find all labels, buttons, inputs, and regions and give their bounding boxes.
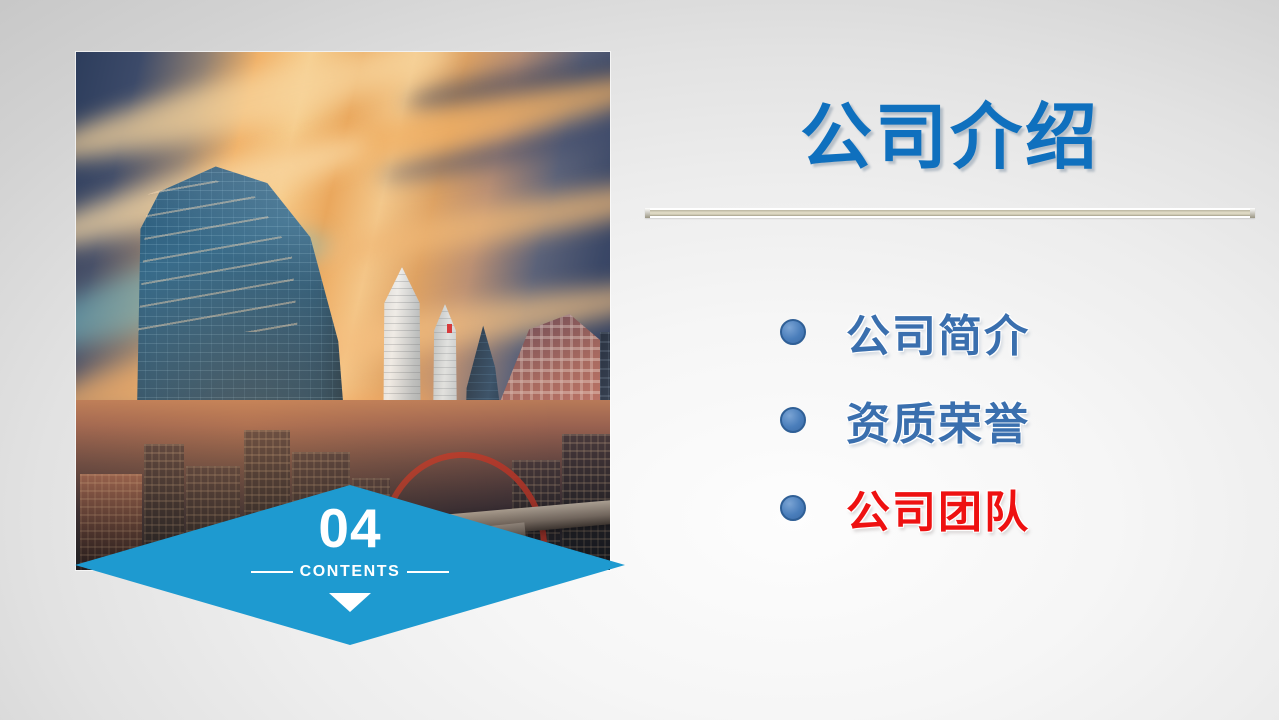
divider-cap-right	[1250, 208, 1255, 218]
bullet-dot-icon	[780, 495, 806, 521]
triangle-down-icon	[329, 593, 371, 612]
bullet-dot-icon	[780, 319, 806, 345]
agenda-item-company-profile[interactable]: 公司简介	[780, 288, 1250, 376]
contents-badge: 04 CONTENTS	[75, 485, 625, 645]
contents-caption-row: CONTENTS	[251, 563, 450, 581]
presentation-slide: 04 CONTENTS 公司介绍 公司简介 资质荣誉 公司团队	[0, 0, 1279, 720]
agenda-list: 公司简介 资质荣誉 公司团队	[780, 288, 1250, 552]
contents-caption: CONTENTS	[300, 563, 401, 581]
agenda-item-label: 资质荣誉	[846, 388, 1030, 452]
caption-rule-left	[251, 571, 293, 573]
divider-cap-left	[645, 208, 650, 218]
page-title: 公司介绍	[645, 78, 1255, 183]
title-divider	[645, 208, 1255, 218]
caption-rule-right	[407, 571, 449, 573]
agenda-item-company-team[interactable]: 公司团队	[780, 464, 1250, 552]
section-number: 04	[318, 501, 381, 556]
agenda-item-label: 公司团队	[846, 476, 1030, 540]
agenda-item-label: 公司简介	[846, 300, 1030, 364]
bullet-dot-icon	[780, 407, 806, 433]
agenda-item-qualifications-honors[interactable]: 资质荣誉	[780, 376, 1250, 464]
